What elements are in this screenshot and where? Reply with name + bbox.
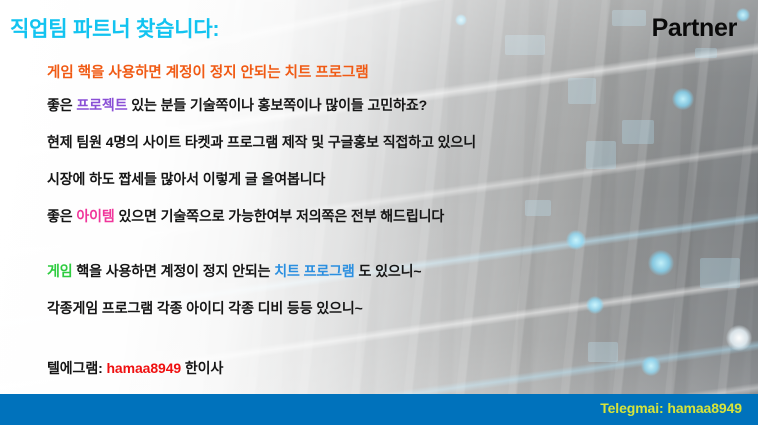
- body-line-1: 좋은 프로젝트 있는 분들 기술쪽이나 홍보쪽이나 많이들 고민하죠?: [47, 95, 427, 115]
- text-segment: hamaa8949: [106, 360, 181, 376]
- body-line-4: 좋은 아이템 있으면 기술쪽으로 가능한여부 저의쪽은 전부 해드립니다: [47, 206, 444, 226]
- text-segment: 도 있으니~: [355, 263, 422, 279]
- text-segment: 치트 프로그램: [274, 263, 354, 279]
- contact-line: 텔에그램: hamaa8949 한이사: [47, 358, 223, 378]
- text-segment: 좋은: [47, 208, 76, 224]
- text-segment: 좋은: [47, 97, 76, 113]
- text-segment: 각종게임 프로그램 각종 아이디 각종 디비 등등 있으니~: [47, 300, 363, 316]
- text-segment: 한이사: [181, 360, 223, 376]
- text-segment: 아이템: [76, 208, 114, 224]
- body-line-6: 각종게임 프로그램 각종 아이디 각종 디비 등등 있으니~: [47, 298, 363, 318]
- text-segment: 있으면 기술쪽으로 가능한여부 저의쪽은 전부 해드립니다: [115, 208, 444, 224]
- brand-label: Partner: [652, 14, 737, 43]
- subheadline: 게임 핵을 사용하면 계정이 정지 안되는 치트 프로그램: [47, 61, 369, 82]
- body-line-2: 현제 팀원 4명의 사이트 타켓과 프로그램 제작 및 구글홍보 직접하고 있으…: [47, 132, 476, 152]
- text-segment: 텔에그램:: [47, 360, 106, 376]
- body-line-3: 시장에 하도 짭세들 많아서 이렇게 글 올여봅니다: [47, 169, 325, 189]
- text-segment: 있는 분들 기술쪽이나 홍보쪽이나 많이들 고민하죠?: [127, 97, 427, 113]
- body-line-5: 게임 핵을 사용하면 계정이 정지 안되는 치트 프로그램 도 있으니~: [47, 261, 422, 281]
- text-segment: 게임: [47, 263, 73, 279]
- text-segment: 핵을 사용하면 계정이 정지 안되는: [73, 263, 275, 279]
- page-title: 직업팀 파트너 찾습니다:: [10, 13, 219, 43]
- footer-contact-label: Telegmai: hamaa8949: [600, 400, 742, 416]
- text-segment: 현제 팀원 4명의 사이트 타켓과 프로그램 제작 및 구글홍보 직접하고 있으…: [47, 134, 476, 150]
- footer-bar: Telegmai: hamaa8949: [0, 394, 758, 425]
- promo-slide: 직업팀 파트너 찾습니다: Partner 게임 핵을 사용하면 계정이 정지 …: [0, 0, 758, 425]
- text-segment: 프로젝트: [76, 97, 127, 113]
- text-segment: 시장에 하도 짭세들 많아서 이렇게 글 올여봅니다: [47, 171, 325, 187]
